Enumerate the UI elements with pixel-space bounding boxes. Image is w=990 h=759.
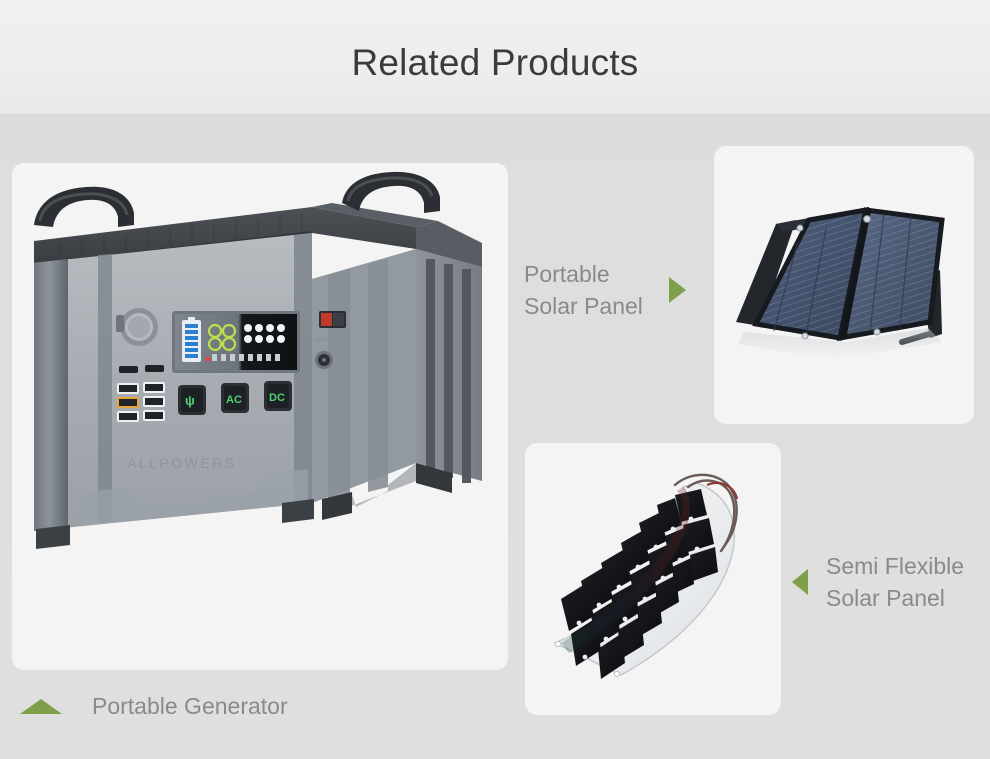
- svg-text:AC: AC: [226, 394, 242, 406]
- carry-handle-left: [34, 187, 134, 227]
- triangle-left-icon: [792, 569, 808, 595]
- product-card-portable-generator[interactable]: AC 220V AC 220V: [12, 163, 508, 670]
- caption-label: Semi Flexible Solar Panel: [826, 550, 964, 614]
- svg-text:ψ: ψ: [185, 393, 195, 408]
- caption-label: Portable Generator: [92, 690, 288, 722]
- brand-text: ALLPOWERS: [127, 455, 237, 471]
- page-header: Related Products: [0, 0, 990, 114]
- product-card-portable-solar-panel[interactable]: [714, 146, 974, 424]
- caption-portable-solar-panel[interactable]: Portable Solar Panel: [524, 258, 686, 322]
- caption-portable-generator[interactable]: Portable Generator: [20, 690, 288, 722]
- display-screen: [172, 311, 300, 373]
- caption-semi-flexible-solar-panel[interactable]: Semi Flexible Solar Panel: [792, 550, 964, 614]
- portable-solar-panel-image: [714, 146, 974, 424]
- caption-label: Portable Solar Panel: [524, 258, 643, 322]
- triangle-up-icon: [20, 699, 62, 714]
- product-card-semi-flexible-solar-panel[interactable]: [525, 443, 781, 715]
- svg-text:DC: DC: [269, 392, 285, 404]
- portable-generator-image: AC 220V AC 220V: [12, 163, 508, 670]
- triangle-right-icon: [669, 277, 686, 303]
- carry-handle-right: [342, 172, 440, 213]
- dc-socket: [315, 351, 333, 369]
- mode-buttons: ψ AC DC: [178, 381, 292, 415]
- rocker-switch: [319, 311, 346, 328]
- page-title: Related Products: [0, 42, 990, 84]
- semi-flexible-solar-panel-image: [525, 443, 781, 715]
- svg-text:DC12V: DC12V: [315, 337, 332, 343]
